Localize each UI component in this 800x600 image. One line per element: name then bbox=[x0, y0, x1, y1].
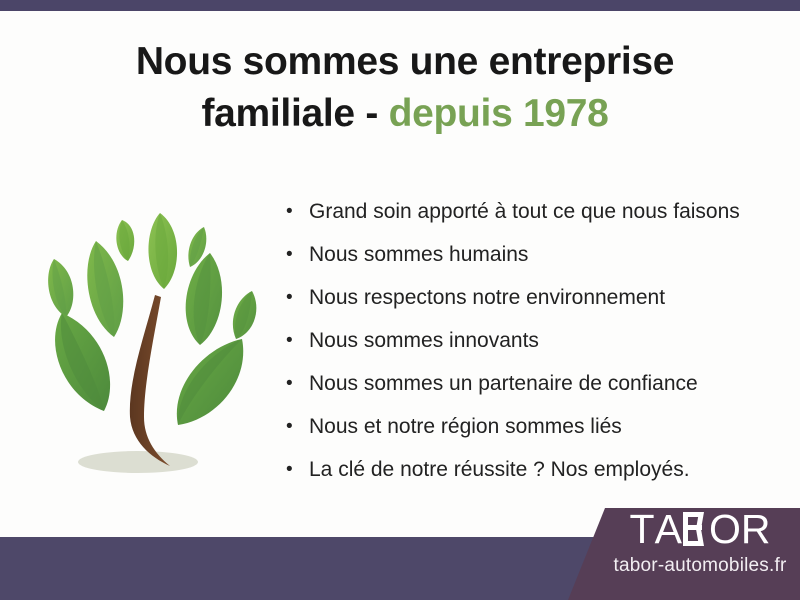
top-brand-band bbox=[0, 0, 800, 11]
list-item: Nous sommes humains bbox=[283, 233, 783, 276]
list-item: Grand soin apporté à tout ce que nous fa… bbox=[283, 190, 783, 233]
slide-canvas: Nous sommes une entreprise familiale - d… bbox=[0, 0, 800, 600]
logo-tagline[interactable]: tabor-automobiles.fr bbox=[607, 554, 793, 578]
tree-trunk bbox=[130, 295, 170, 466]
value-bullet-list: Grand soin apporté à tout ce que nous fa… bbox=[283, 190, 783, 491]
logo-letter-a: A bbox=[655, 508, 682, 550]
brand-logo[interactable]: T A O R tabor-automobiles.fr bbox=[607, 508, 793, 586]
list-item: Nous sommes un partenaire de confiance bbox=[283, 362, 783, 405]
list-item: Nous sommes innovants bbox=[283, 319, 783, 362]
tree-illustration bbox=[18, 185, 278, 495]
logo-letter-t: T bbox=[630, 508, 655, 550]
list-item: La clé de notre réussite ? Nos employés. bbox=[283, 448, 783, 491]
page-title: Nous sommes une entreprise familiale - d… bbox=[60, 36, 750, 140]
headline-line-2: familiale - depuis 1978 bbox=[60, 88, 750, 140]
logo-wordmark: T A O R bbox=[607, 508, 793, 550]
tree-shadow bbox=[78, 451, 198, 473]
list-item: Nous respectons notre environnement bbox=[283, 276, 783, 319]
list-item: Nous et notre région sommes liés bbox=[283, 405, 783, 448]
tree-leaf bbox=[177, 339, 243, 425]
logo-letter-o: O bbox=[709, 508, 741, 550]
logo-letter-r: R bbox=[741, 508, 771, 550]
logo-letter-b-icon bbox=[683, 508, 708, 550]
headline-line-2-plain: familiale - bbox=[201, 92, 388, 135]
headline-accent: depuis 1978 bbox=[389, 92, 609, 135]
headline-line-1: Nous sommes une entreprise bbox=[60, 36, 750, 88]
